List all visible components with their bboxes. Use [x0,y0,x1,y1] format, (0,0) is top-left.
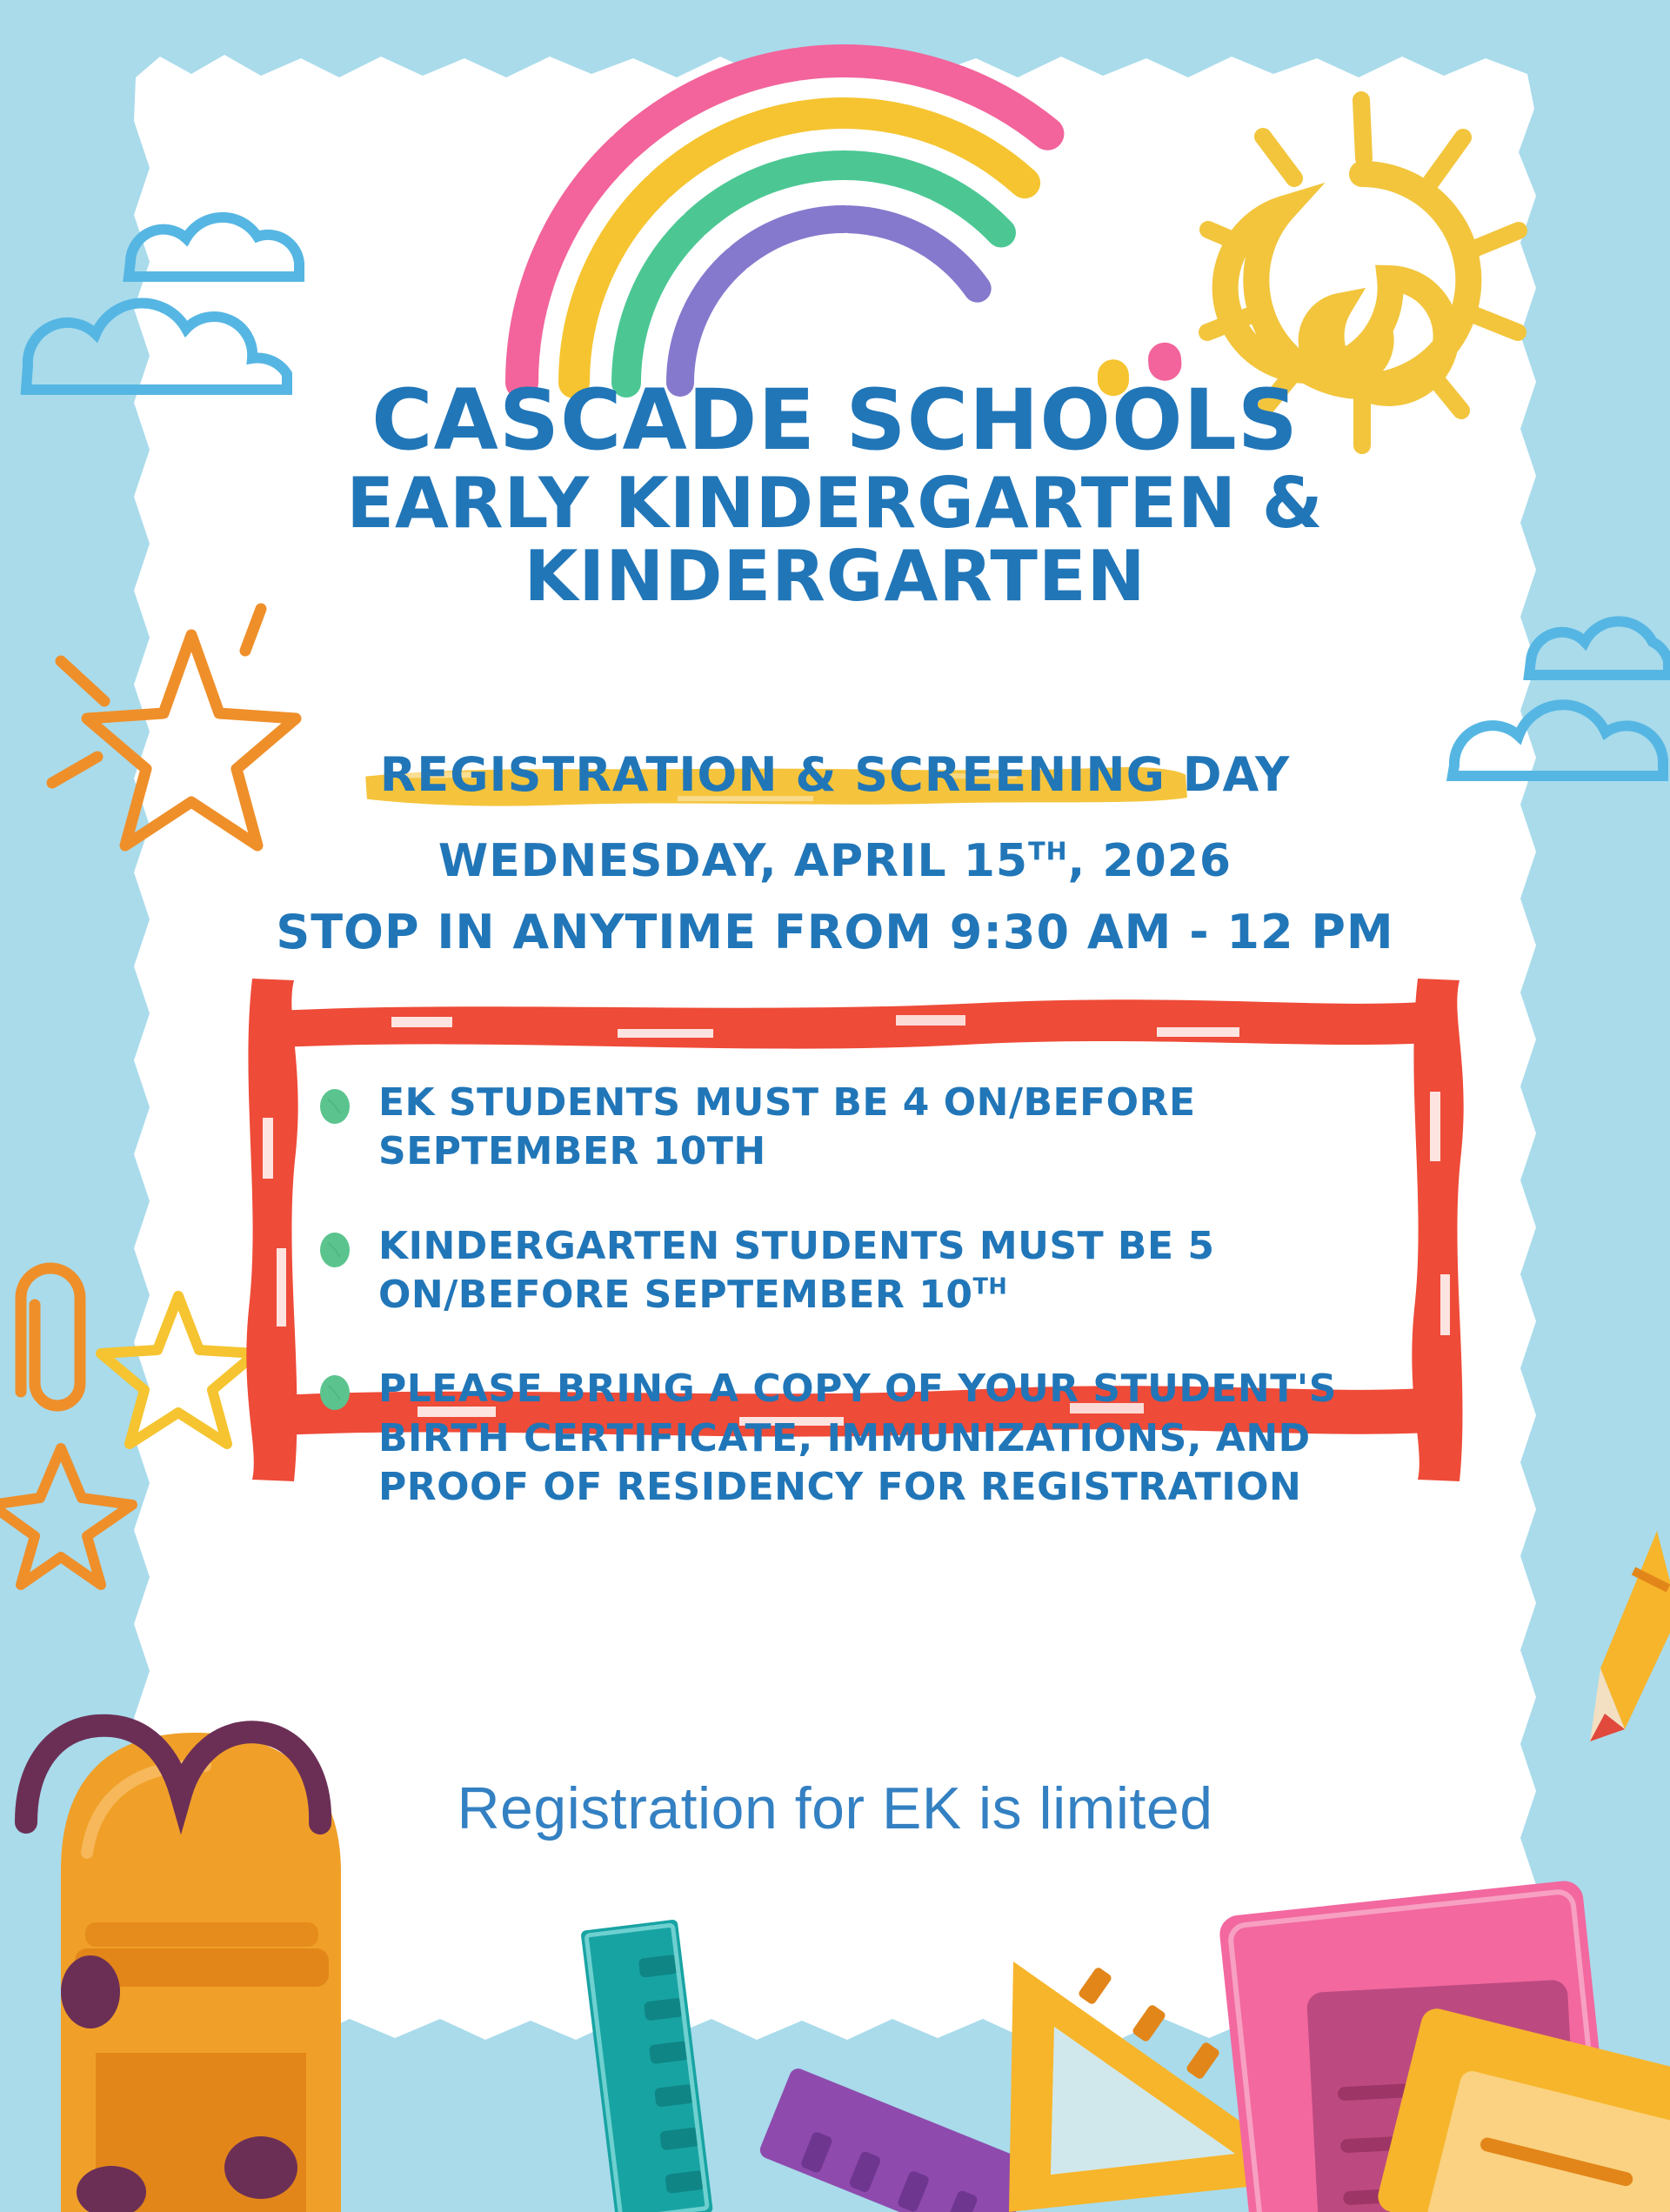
list-item: Kindergarten students must be 5 on/befor… [317,1222,1387,1320]
list-item: Please bring a copy of your student's bi… [317,1365,1387,1512]
headline-line-1: Cascade Schools [130,378,1540,462]
footer-note: Registration for EK is limited [130,1774,1540,1842]
requirements-list: EK students must be 4 on/before Septembe… [317,1079,1387,1512]
list-item-text-main: Kindergarten students must be 5 on/befor… [378,1224,1214,1317]
bullet-dot-icon [317,1231,352,1269]
subtitle-row: Registration & Screening Day [130,744,1540,809]
list-item-text: Please bring a copy of your student's bi… [378,1365,1387,1512]
event-time: Stop in anytime from 9:30 AM - 12 PM [130,905,1540,959]
event-date-suffix: , 2026 [1068,835,1232,887]
poster-content: Cascade Schools Early Kindergarten & Kin… [130,48,1540,2048]
headline-line-3: Kindergarten [130,540,1540,613]
list-item-text: EK students must be 4 on/before Septembe… [378,1079,1387,1177]
event-date-ordinal: th [1028,837,1067,866]
poster-canvas: Cascade Schools Early Kindergarten & Kin… [0,0,1670,2212]
headline-line-2: Early Kindergarten & [130,467,1540,540]
list-item-text: Kindergarten students must be 5 on/befor… [378,1222,1387,1320]
headline-block: Cascade Schools Early Kindergarten & Kin… [130,378,1540,613]
subtitle-block: Registration & Screening Day [361,744,1310,809]
list-item-ordinal: th [972,1273,1007,1300]
bullet-dot-icon [317,1087,352,1126]
event-date-prefix: Wednesday, April 15 [438,835,1028,887]
subtitle-text: Registration & Screening Day [380,747,1291,802]
bullet-dot-icon [317,1373,352,1412]
event-date: Wednesday, April 15th, 2026 [130,835,1540,887]
list-item: EK students must be 4 on/before Septembe… [317,1079,1387,1177]
